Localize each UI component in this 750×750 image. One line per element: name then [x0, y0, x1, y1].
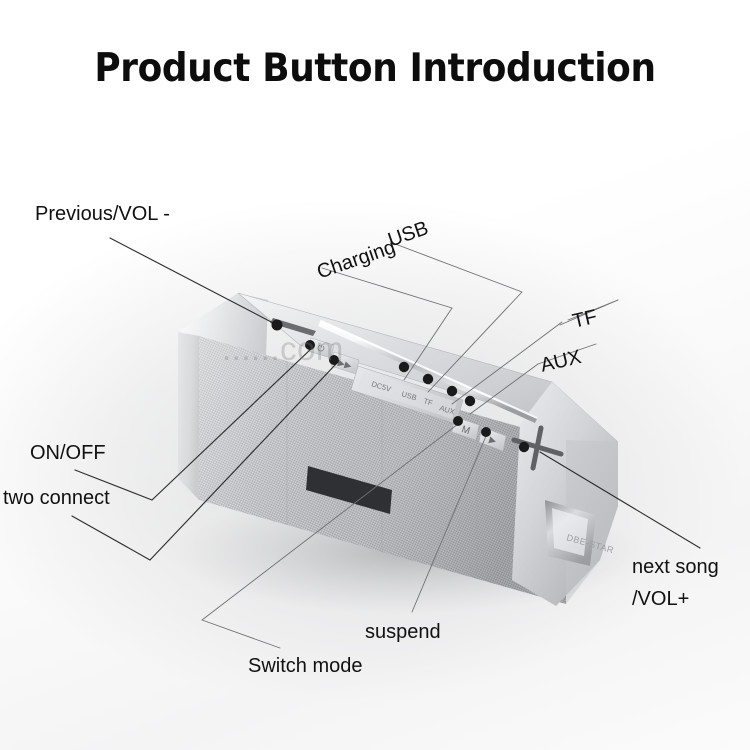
dot-minus-button [272, 320, 283, 331]
dot-dc5v-port [399, 362, 409, 372]
callout-suspend: suspend [365, 621, 441, 644]
leader-suspend [412, 436, 486, 612]
leader-twoconnect-b [150, 364, 336, 560]
leader-aux [470, 364, 538, 414]
leader-next-song [540, 452, 700, 548]
callout-two-connect: two connect [3, 487, 110, 510]
leader-usb [428, 292, 522, 392]
dot-pair-button [329, 355, 339, 365]
leader-switchmode-b [202, 424, 458, 620]
dot-usb-port [423, 374, 433, 384]
callout-on-off: ON/OFF [30, 442, 106, 465]
dot-mode-button [453, 416, 463, 426]
callout-previous-vol-down: Previous/VOL - [35, 203, 170, 226]
dot-tf-port [447, 386, 457, 396]
dot-aux-port [465, 396, 475, 406]
leader-switchmode-a [202, 620, 280, 648]
infographic-canvas: Product Button Introduction [0, 0, 750, 750]
leader-endpoint-dots [272, 320, 530, 453]
leader-usb-underline [390, 242, 522, 292]
leader-onoff-b [152, 348, 312, 500]
dot-plus-button [519, 442, 529, 452]
leader-charging [404, 308, 452, 380]
callout-next-song-vol: /VOL+ [632, 588, 689, 611]
leader-twoconnect-a [72, 516, 150, 560]
callout-switch-mode: Switch mode [248, 655, 363, 678]
leader-previous-vol-down [110, 238, 277, 325]
dot-power-button [305, 340, 315, 350]
dot-play-button [481, 427, 491, 437]
callout-next-song: next song [632, 556, 719, 579]
